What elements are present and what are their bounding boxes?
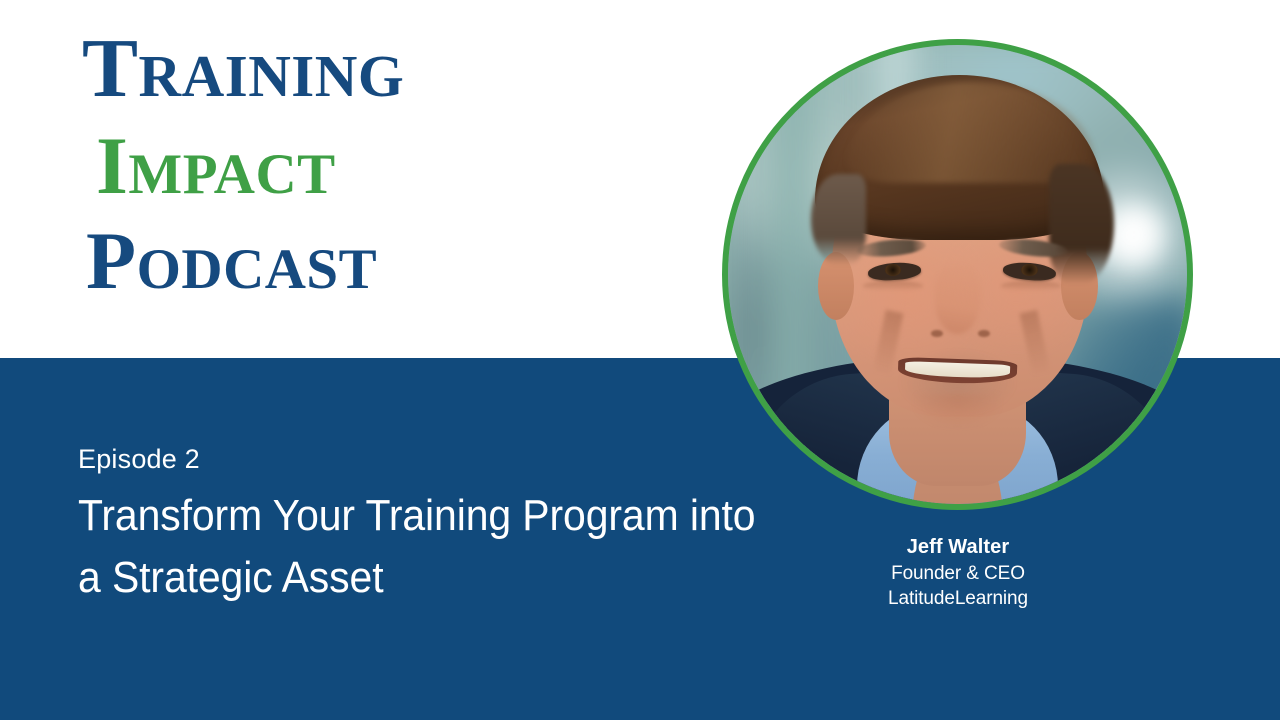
logo-line-impact: Impact — [96, 126, 702, 206]
under-eye-right — [1001, 281, 1061, 290]
episode-title: Transform Your Training Program into a S… — [78, 485, 766, 610]
under-eye-left — [863, 281, 923, 290]
hair-temple-right — [1049, 164, 1113, 283]
speaker-credit: Jeff Walter Founder & CEO LatitudeLearni… — [806, 534, 1110, 612]
nostril-left — [931, 330, 943, 337]
nose — [935, 265, 981, 334]
speaker-name: Jeff Walter — [806, 534, 1110, 561]
portrait-image — [728, 45, 1187, 504]
logo-line-training: Training — [82, 28, 702, 110]
chin-shading — [916, 394, 999, 426]
speaker-company: LatitudeLearning — [806, 586, 1110, 611]
speaker-portrait — [722, 39, 1193, 510]
teeth — [905, 362, 1010, 379]
nostril-right — [978, 330, 990, 337]
episode-number: Episode 2 — [78, 444, 818, 475]
podcast-logo: Training Impact Podcast — [82, 28, 702, 301]
episode-info: Episode 2 Transform Your Training Progra… — [78, 444, 818, 610]
podcast-episode-cover: Training Impact Podcast — [0, 0, 1280, 720]
speaker-role: Founder & CEO — [806, 561, 1110, 586]
logo-line-podcast: Podcast — [86, 221, 702, 301]
